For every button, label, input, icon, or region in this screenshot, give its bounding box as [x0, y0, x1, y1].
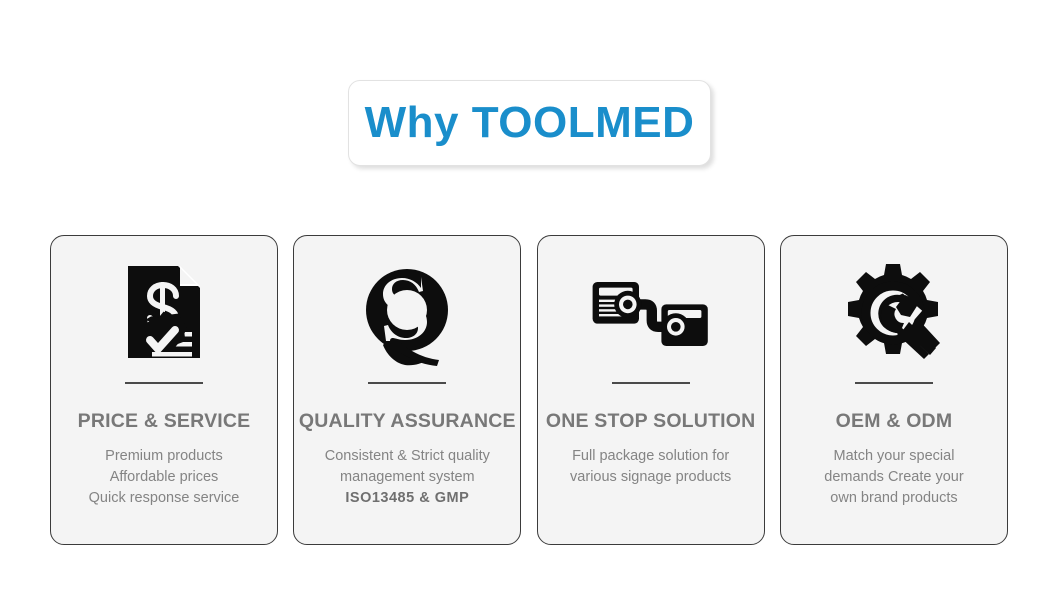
card-divider [855, 382, 933, 384]
card-line: Consistent & Strict quality [325, 446, 490, 467]
card-title: ONE STOP SOLUTION [546, 410, 756, 433]
card-line: various signage products [570, 467, 731, 488]
feature-card-oem-odm[interactable]: OEM & ODM Match your special demands Cre… [780, 235, 1008, 545]
feature-card-one-stop-solution[interactable]: ONE STOP SOLUTION Full package solution … [537, 235, 765, 545]
card-line: Full package solution for [570, 446, 731, 467]
card-line: Quick response service [89, 488, 240, 509]
card-divider [125, 382, 203, 384]
card-line: Match your special [824, 446, 963, 467]
card-line: demands Create your [824, 467, 963, 488]
invoice-verified-icon [104, 258, 224, 370]
card-line: own brand products [824, 488, 963, 509]
feature-card-price-service[interactable]: PRICE & SERVICE Premium products Afforda… [50, 235, 278, 545]
card-line-certification: ISO13485 & GMP [325, 488, 490, 509]
card-divider [612, 382, 690, 384]
card-description: Full package solution for various signag… [560, 446, 741, 488]
card-description: Consistent & Strict quality management s… [315, 446, 500, 509]
card-divider [368, 382, 446, 384]
card-title: PRICE & SERVICE [78, 410, 251, 433]
card-line: Affordable prices [89, 467, 240, 488]
card-line: Premium products [89, 446, 240, 467]
card-description: Premium products Affordable prices Quick… [79, 446, 250, 509]
gear-wrench-icon [834, 258, 954, 370]
card-line: management system [325, 467, 490, 488]
page-title: Why TOOLMED [365, 101, 695, 145]
feature-cards-row: PRICE & SERVICE Premium products Afforda… [50, 235, 1008, 545]
feature-card-quality-assurance[interactable]: QUALITY ASSURANCE Consistent & Strict qu… [293, 235, 521, 545]
card-description: Match your special demands Create your o… [814, 446, 973, 509]
workflow-nodes-icon [591, 258, 711, 370]
qs-monogram-icon [347, 258, 467, 370]
card-title: QUALITY ASSURANCE [299, 410, 516, 433]
card-title: OEM & ODM [836, 410, 953, 433]
why-toolmed-banner: Why TOOLMED [348, 80, 711, 166]
